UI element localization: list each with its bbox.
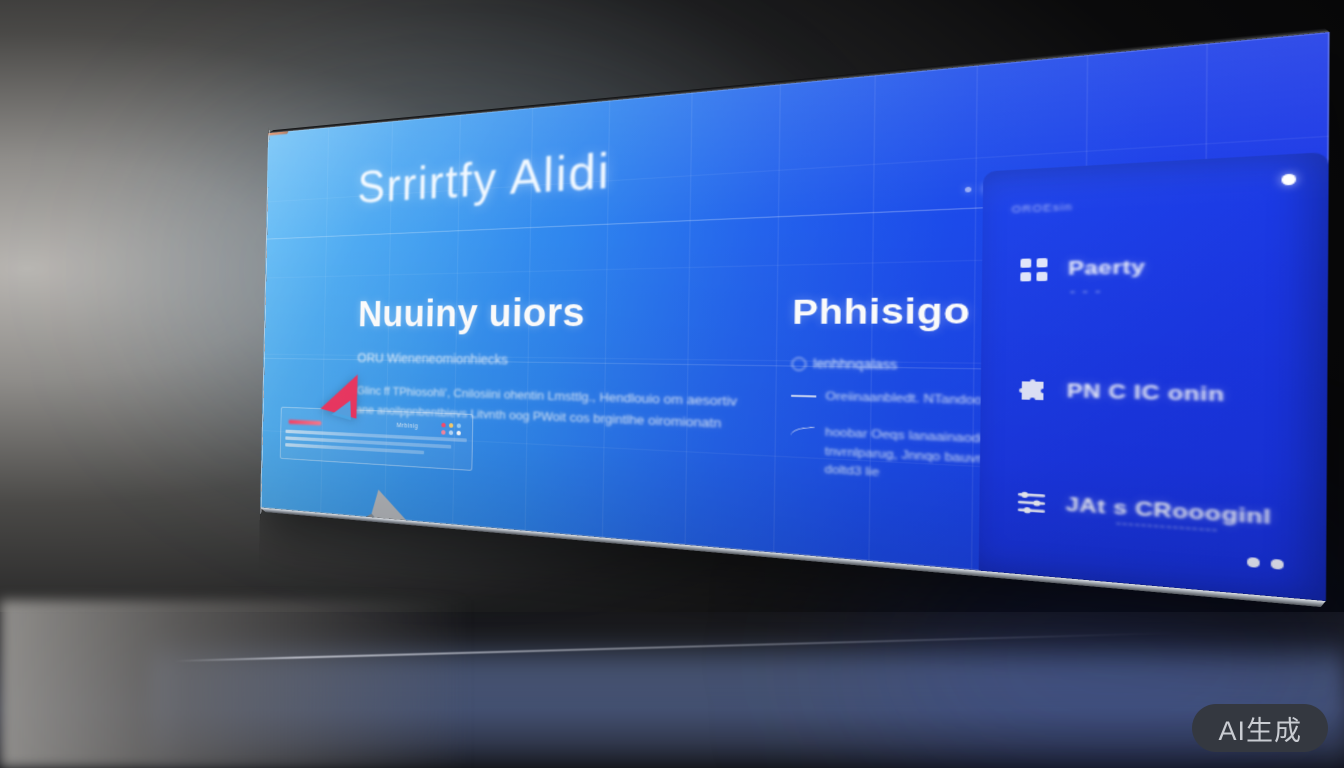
right-sidebar: OROEsin Paerty bbox=[979, 152, 1329, 601]
mini-data-card[interactable]: Mrbinig bbox=[280, 407, 473, 471]
sidebar-dot-2 bbox=[1271, 559, 1284, 570]
dot-6 bbox=[1069, 180, 1079, 189]
ui-panel-slab: Srrirtfy Alidi Nuuiny uiors ORU Wieneneo… bbox=[260, 32, 1330, 601]
list-item-text: Oreiinaanbledt. NTandoonemohana Jaues bbox=[825, 388, 1102, 415]
ai-watermark-text: AI生成 bbox=[1218, 709, 1302, 748]
sidebar-item-label: PN C IC onin bbox=[1067, 380, 1225, 407]
swoosh-marker-icon bbox=[790, 426, 817, 440]
sidebar-top-dot-icon bbox=[1282, 174, 1297, 186]
circle-outline-icon bbox=[791, 357, 806, 371]
secondary-chip-label: lenhhnqalass bbox=[813, 356, 897, 372]
list-item: hoobar Oeqs lanaainaoddo lnonas bi tnvrn… bbox=[790, 423, 1109, 498]
main-subheading: ORU Wieneneomionhiecks bbox=[357, 351, 756, 373]
scene-root: Srrirtfy Alidi Nuuiny uiors ORU Wieneneo… bbox=[0, 0, 1344, 768]
sidebar-bottom-dots[interactable] bbox=[1247, 557, 1284, 570]
secondary-text-column: Phhisigo lenhhnqalass Oreiinaanbledt. NT… bbox=[790, 288, 1110, 497]
puzzle-piece-icon bbox=[1018, 378, 1048, 404]
card-accent-bar bbox=[289, 420, 322, 426]
secondary-heading: Phhisigo bbox=[792, 288, 1110, 334]
main-heading: Nuuiny uiors bbox=[358, 287, 757, 336]
sidebar-caption: OROEsin bbox=[1012, 201, 1073, 215]
page-title: Srrirtfy Alidi bbox=[357, 143, 611, 214]
grey-abstract-object-icon bbox=[297, 482, 458, 578]
grid-squares-icon bbox=[1019, 257, 1049, 283]
dot-1 bbox=[965, 187, 972, 193]
panel-perspective-wrapper: Srrirtfy Alidi Nuuiny uiors ORU Wieneneo… bbox=[0, 0, 1344, 768]
dots-indicator[interactable] bbox=[965, 180, 1079, 194]
list-item-text: hoobar Oeqs lanaainaoddo lnonas bi tnvrn… bbox=[824, 424, 1108, 497]
sidebar-item-label: Paerty bbox=[1068, 256, 1146, 281]
dot-4 bbox=[1025, 182, 1035, 190]
sidebar-dot-1 bbox=[1247, 557, 1260, 568]
sliders-icon bbox=[1016, 489, 1046, 516]
list-item: Oreiinaanbledt. NTandoonemohana Jaues bbox=[791, 387, 1109, 415]
card-text-rows bbox=[285, 430, 467, 461]
dot-2 bbox=[983, 184, 992, 192]
sidebar-item-1[interactable]: PN C IC onin bbox=[1018, 378, 1225, 409]
sidebar-item-sublabel: • • • bbox=[1071, 286, 1103, 297]
dash-marker-icon bbox=[791, 395, 816, 397]
secondary-chip-row: lenhhnqalass bbox=[791, 356, 1109, 376]
sidebar-footnote: •••••••••••••••• bbox=[1116, 518, 1219, 536]
card-label: Mrbinig bbox=[397, 423, 419, 430]
dot-3 bbox=[1004, 183, 1013, 191]
sidebar-item-0[interactable]: Paerty bbox=[1019, 254, 1146, 282]
sidebar-item-label: JAt s CRoooginl bbox=[1066, 493, 1272, 530]
card-status-dots bbox=[441, 423, 465, 437]
sidebar-item-2[interactable]: JAt s CRoooginl bbox=[1016, 489, 1271, 531]
dot-5 bbox=[1047, 181, 1057, 189]
ai-watermark-badge: AI生成 bbox=[1192, 704, 1328, 752]
